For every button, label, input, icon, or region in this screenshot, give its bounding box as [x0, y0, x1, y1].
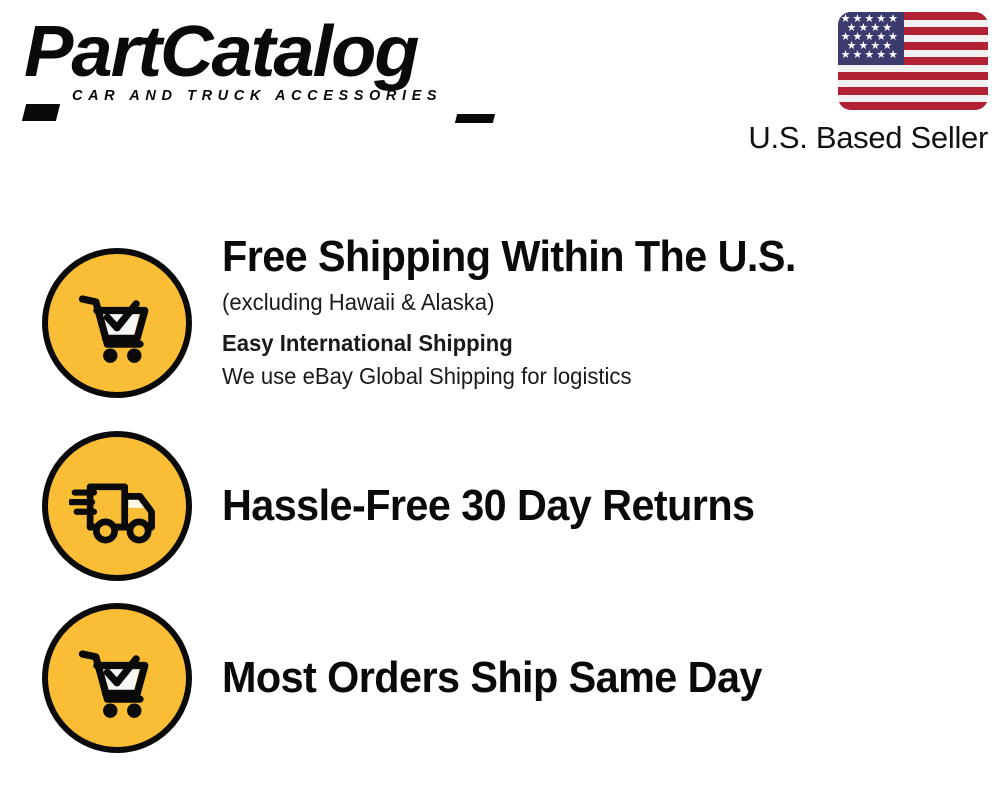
feature-subtitle-international: Easy International Shipping [222, 327, 969, 360]
feature-text-block: Hassle-Free 30 Day Returns [222, 483, 1000, 530]
logo-accent-left-icon [22, 104, 60, 121]
banner-header: PartCatalog CAR AND TRUCK ACCESSORIES ★ … [0, 0, 1000, 180]
feature-list: Free Shipping Within The U.S. (excluding… [0, 232, 1000, 764]
feature-text-block: Most Orders Ship Same Day [222, 655, 1000, 702]
us-based-seller-block: ★ ★ ★ ★ ★ ★ ★ ★ ★ ★ ★ ★ ★ ★ ★ ★ ★ ★ ★ ★ [728, 12, 988, 156]
feature-title: Most Orders Ship Same Day [222, 655, 953, 702]
us-flag-icon: ★ ★ ★ ★ ★ ★ ★ ★ ★ ★ ★ ★ ★ ★ ★ ★ ★ ★ ★ ★ [838, 12, 988, 110]
flag-stars: ★ ★ ★ ★ ★ ★ ★ ★ ★ ★ ★ ★ ★ ★ ★ ★ ★ ★ ★ ★ [838, 12, 904, 65]
logo-wordmark: PartCatalog [24, 18, 508, 86]
feature-subtitle-exclusions: (excluding Hawaii & Alaska) [222, 286, 969, 319]
brand-logo: PartCatalog CAR AND TRUCK ACCESSORIES [24, 18, 494, 104]
feature-row: Hassle-Free 30 Day Returns [0, 420, 1000, 592]
feature-subtitle-logistics: We use eBay Global Shipping for logistic… [222, 360, 969, 393]
feature-title: Hassle-Free 30 Day Returns [222, 483, 953, 530]
feature-row: Most Orders Ship Same Day [0, 592, 1000, 764]
feature-text-block: Free Shipping Within The U.S. (excluding… [222, 234, 1000, 394]
logo-accent-right-icon [455, 114, 495, 123]
feature-row: Free Shipping Within The U.S. (excluding… [0, 232, 1000, 420]
shopping-cart-check-icon [42, 603, 192, 753]
us-based-seller-label: U.S. Based Seller [728, 120, 988, 156]
shopping-cart-check-icon [42, 248, 192, 398]
delivery-truck-icon [42, 431, 192, 581]
feature-title: Free Shipping Within The U.S. [222, 234, 953, 281]
